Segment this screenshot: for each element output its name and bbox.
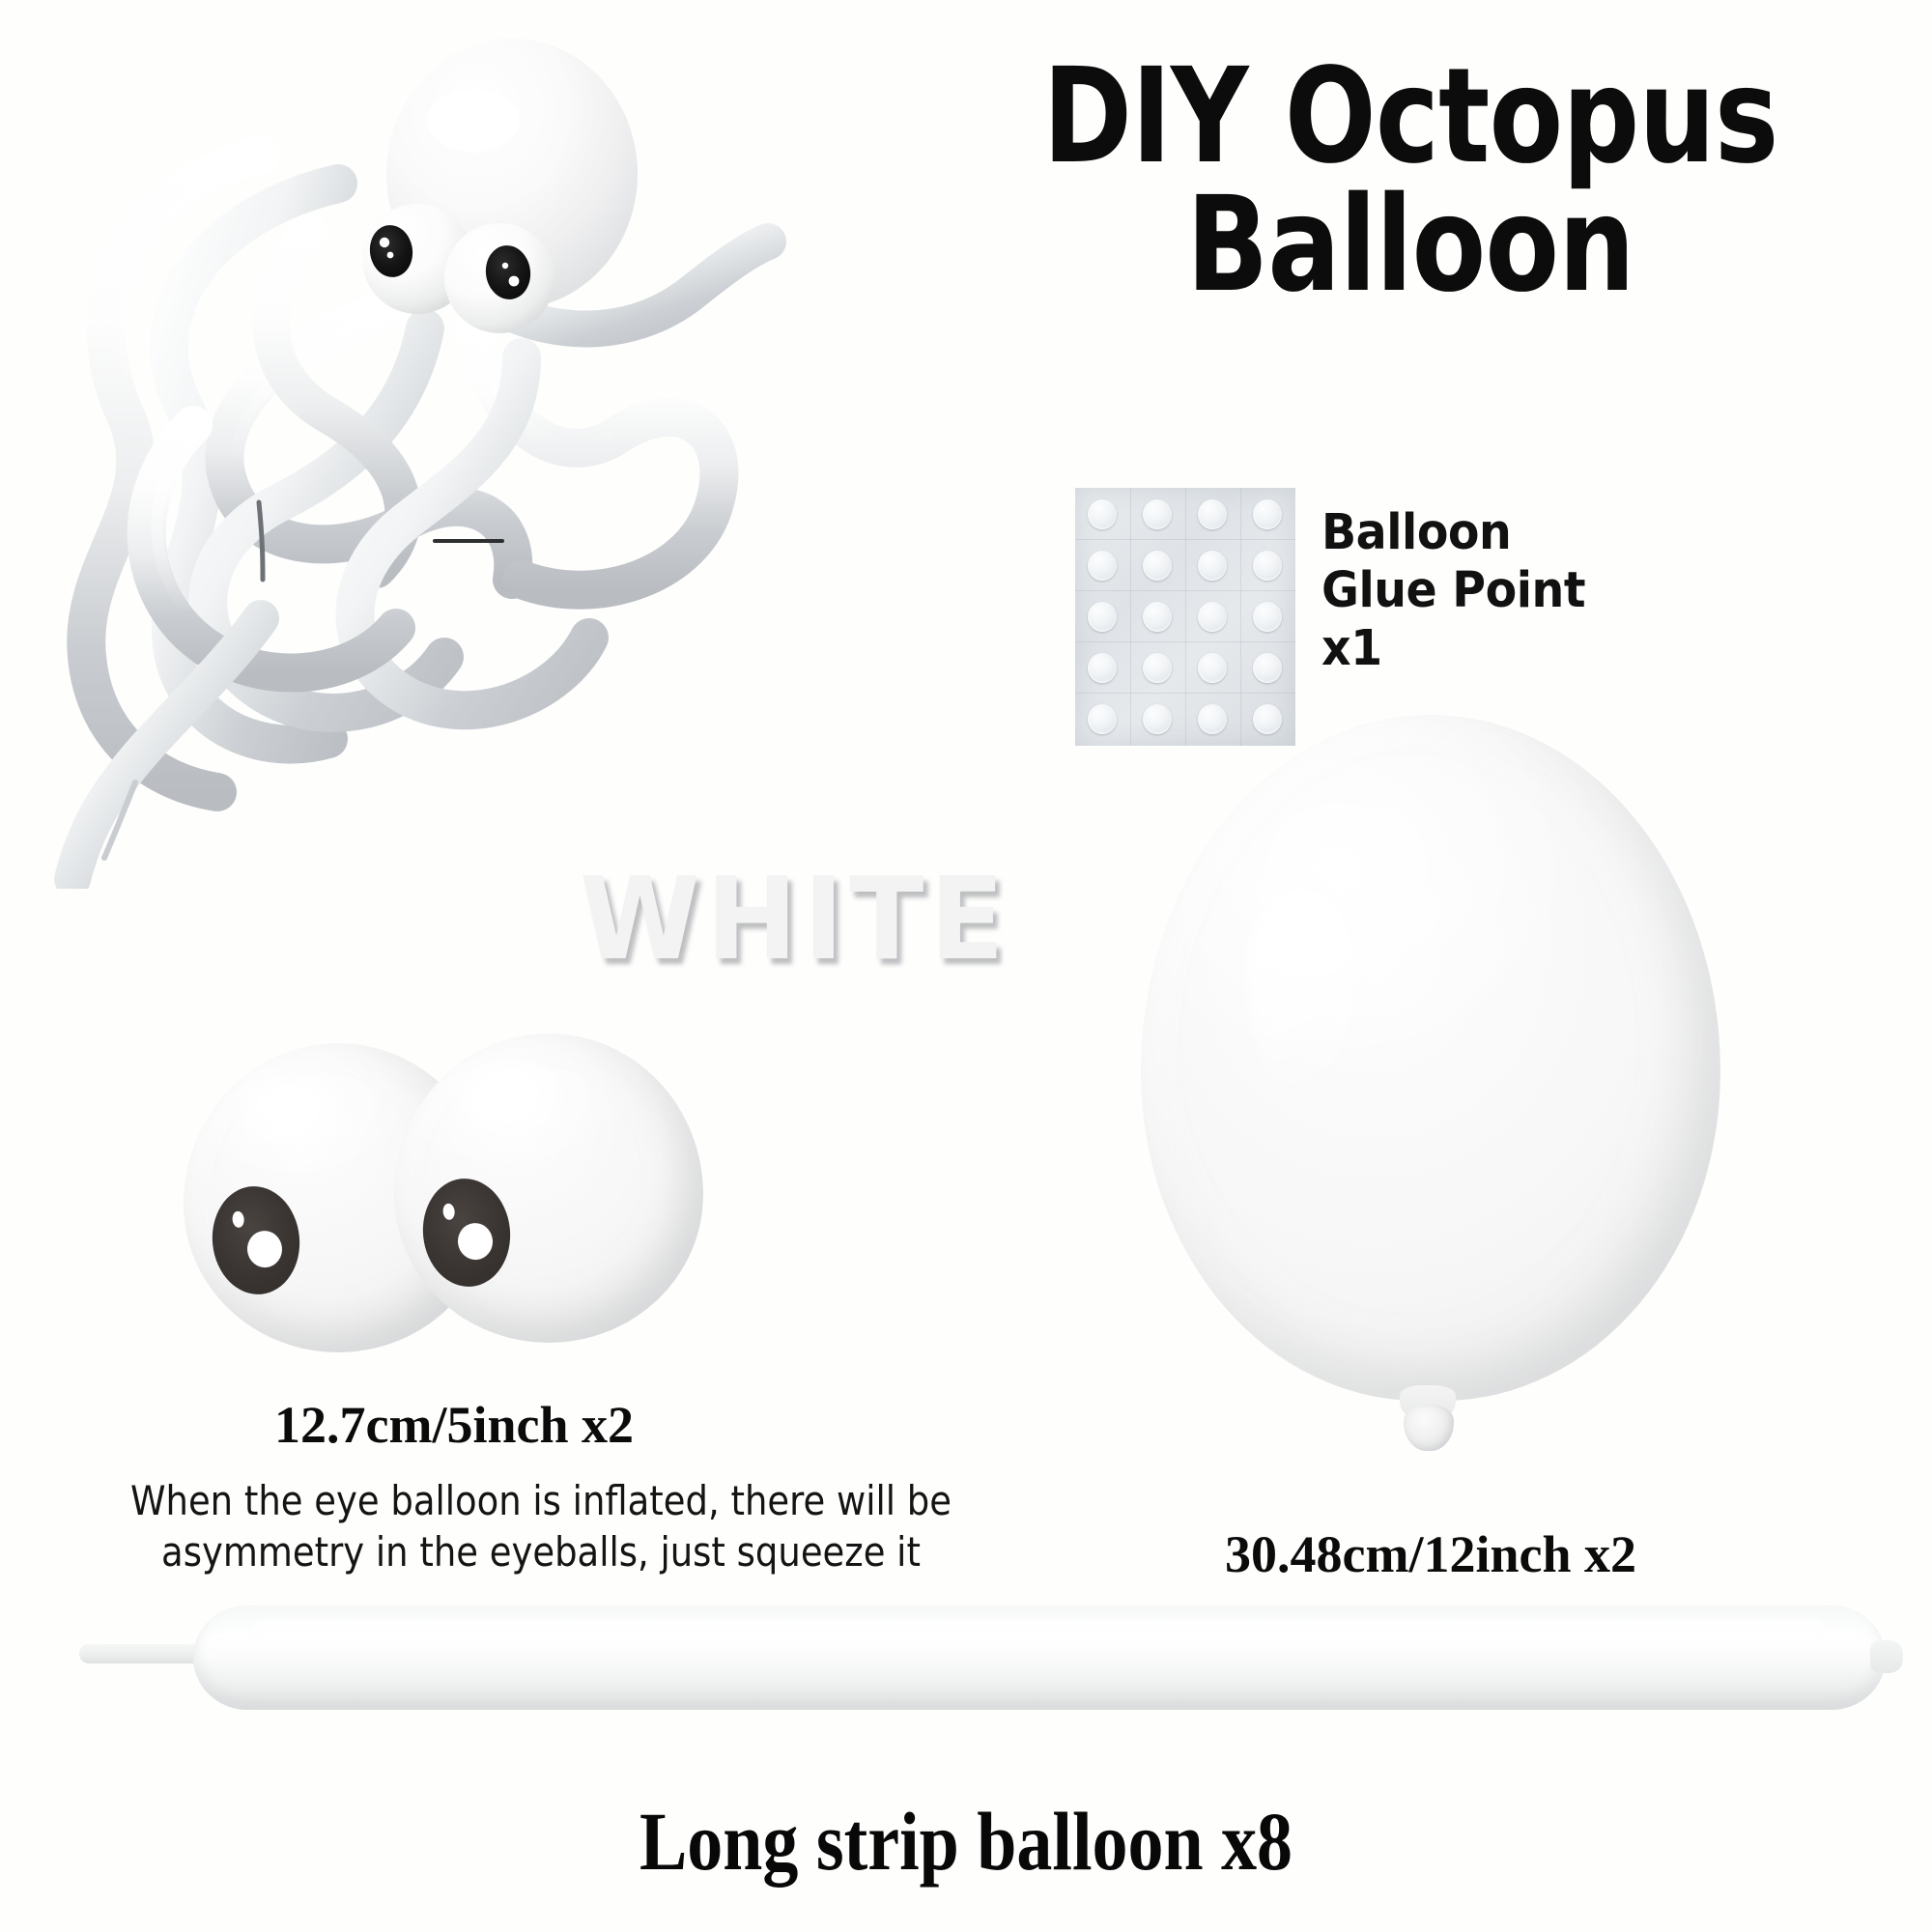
glue-dot: [1143, 653, 1172, 683]
product-infographic: DIY Octopus Balloon: [0, 0, 1932, 1932]
glue-dot: [1088, 602, 1117, 632]
glue-dot: [1143, 602, 1172, 632]
long-strip-balloon: [58, 1584, 1893, 1748]
octopus-balloon-illustration: [19, 19, 811, 889]
glue-dot: [1198, 653, 1227, 683]
round-balloon-knot: [1404, 1405, 1454, 1451]
strip-balloon-highlight: [251, 1619, 1826, 1640]
eye-highlight: [236, 1076, 352, 1148]
glue-dot: [1088, 551, 1117, 581]
octopus-eye-right: [444, 223, 554, 333]
glue-dot: [1253, 602, 1282, 632]
eye-balloons-caption: 12.7cm/5inch x2: [87, 1395, 821, 1455]
glue-dot: [1253, 551, 1282, 581]
glue-dot: [1198, 551, 1227, 581]
round-balloon-12inch: [1141, 715, 1720, 1468]
eye-balloon-right: [394, 1034, 703, 1343]
round-balloon-highlight: [1247, 889, 1355, 1092]
strip-balloon-caption: Long strip balloon x8: [135, 1793, 1797, 1889]
round-balloon-caption: 30.48cm/12inch x2: [1141, 1524, 1720, 1584]
page-title: DIY Octopus Balloon: [908, 53, 1913, 311]
title-line-1: DIY Octopus: [999, 53, 1823, 182]
eye-highlight: [454, 1061, 576, 1134]
glue-dot: [1143, 551, 1172, 581]
glue-dot: [1088, 704, 1117, 734]
pupil-highlight-large: [245, 1229, 284, 1269]
color-watermark-label: WHITE: [580, 852, 1009, 985]
strip-balloon-nozzle: [79, 1644, 205, 1663]
glue-dot: [1088, 499, 1117, 529]
glue-dot: [1143, 499, 1172, 529]
pupil-highlight-small: [232, 1210, 245, 1228]
eye-balloons-note: When the eye balloon is inflated, there …: [116, 1476, 966, 1578]
pupil-highlight-large: [456, 1221, 495, 1262]
glue-dot: [1253, 653, 1282, 683]
eye-pupil: [417, 1175, 515, 1292]
pupil-highlight-small: [442, 1203, 456, 1220]
strip-balloon-tail: [1870, 1640, 1903, 1673]
balloon-glue-point-sheet: [1075, 488, 1295, 746]
glue-dot: [1198, 602, 1227, 632]
glue-dot: [1088, 653, 1117, 683]
eye-balloons-group: [184, 1034, 802, 1362]
eye-pupil: [207, 1182, 304, 1299]
title-line-2: Balloon: [999, 182, 1823, 310]
round-balloon-body: [1141, 715, 1720, 1401]
glue-dot: [1253, 499, 1282, 529]
glue-dot: [1198, 499, 1227, 529]
glue-point-label: Balloon Glue Point x1: [1321, 504, 1585, 679]
